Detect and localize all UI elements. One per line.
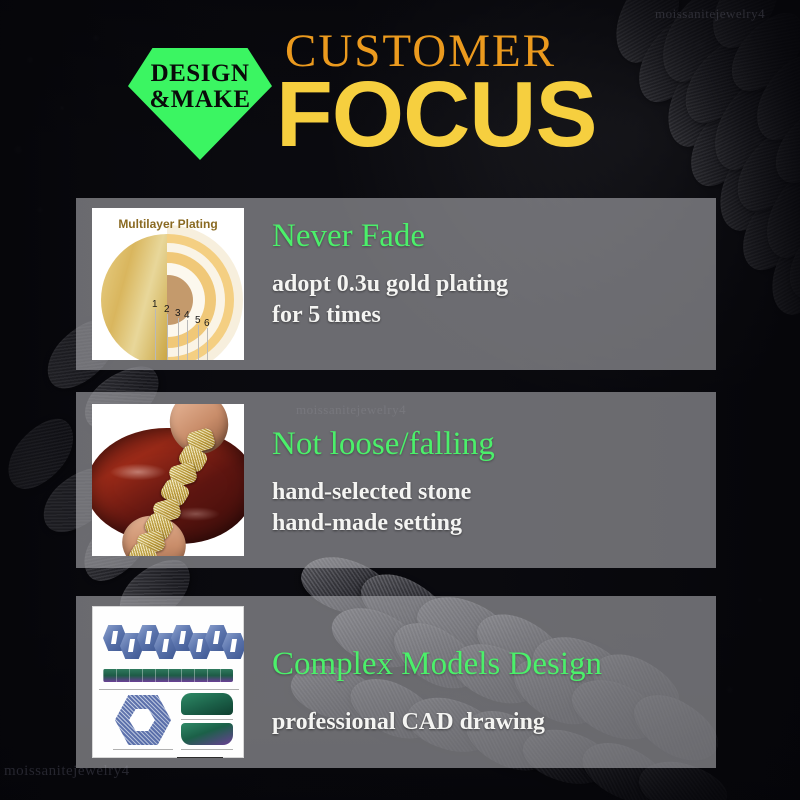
cad-chain-side-profile xyxy=(103,669,233,682)
multilayer-plating-diagram: Multilayer Plating 123456 xyxy=(92,208,244,360)
plating-diagram-title: Multilayer Plating xyxy=(92,217,244,231)
feature-line-1: professional CAD drawing xyxy=(272,709,706,736)
cad-dimension-line-bottom xyxy=(181,749,233,750)
feature-panel-not-loose: Not loose/falling hand-selected stone ha… xyxy=(76,392,716,568)
feature-text-complex-models: Complex Models Design professional CAD d… xyxy=(272,608,706,736)
design-and-make-logo: DESIGN &MAKE xyxy=(128,48,272,160)
plating-leader-line xyxy=(178,318,179,360)
cad-scale-bar xyxy=(177,757,223,758)
cad-cross-section-top xyxy=(181,693,233,715)
feature-panel-complex-models: Complex Models Design professional CAD d… xyxy=(76,596,716,768)
feature-heading: Complex Models Design xyxy=(272,646,706,683)
watermark-top-right: moissanitejewelry4 xyxy=(655,6,765,22)
plating-layer-number: 3 xyxy=(175,308,181,319)
plating-leader-line xyxy=(167,314,168,360)
thumbnail-hand-setting xyxy=(92,404,244,556)
feature-heading: Not loose/falling xyxy=(272,426,706,463)
title-focus: FOCUS xyxy=(276,68,597,161)
logo-line-1: DESIGN xyxy=(128,61,272,87)
plating-layer-number: 4 xyxy=(184,310,190,321)
cad-cross-section-bottom xyxy=(181,723,233,745)
feature-text-not-loose: Not loose/falling hand-selected stone ha… xyxy=(272,404,706,537)
feature-text-never-fade: Never Fade adopt 0.3u gold plating for 5… xyxy=(272,210,706,329)
plating-leader-line xyxy=(155,309,156,360)
cad-divider-line xyxy=(99,689,239,690)
plating-leader-line xyxy=(207,328,208,360)
feature-line-2: hand-made setting xyxy=(272,510,706,537)
feature-panel-never-fade: Multilayer Plating 123456 Never Fade ado… xyxy=(76,198,716,370)
logo-line-2: &MAKE xyxy=(128,87,272,113)
cad-chain-model-drawing xyxy=(92,606,244,758)
customer-focus-poster: moissanitejewelry4 moissanitejewelry4 mo… xyxy=(0,0,800,800)
thumbnail-cad-drawing xyxy=(92,606,244,758)
feature-line-1: adopt 0.3u gold plating xyxy=(272,271,706,298)
logo-text: DESIGN &MAKE xyxy=(128,61,272,113)
plating-layer-number: 2 xyxy=(164,304,170,315)
cad-dimension-line-left xyxy=(113,749,173,750)
feature-line-1: hand-selected stone xyxy=(272,479,706,506)
cad-dimension-line-right xyxy=(181,719,233,720)
feature-heading: Never Fade xyxy=(272,218,706,255)
hand-setting-stones-photo xyxy=(92,404,244,556)
plating-leader-line xyxy=(198,325,199,360)
plating-layer-number: 6 xyxy=(204,318,210,329)
feature-line-2: for 5 times xyxy=(272,302,706,329)
plating-layer-number: 1 xyxy=(152,299,158,310)
plating-leader-line xyxy=(187,320,188,360)
plating-layer-number: 5 xyxy=(195,315,201,326)
thumbnail-multilayer-plating: Multilayer Plating 123456 xyxy=(92,208,244,360)
